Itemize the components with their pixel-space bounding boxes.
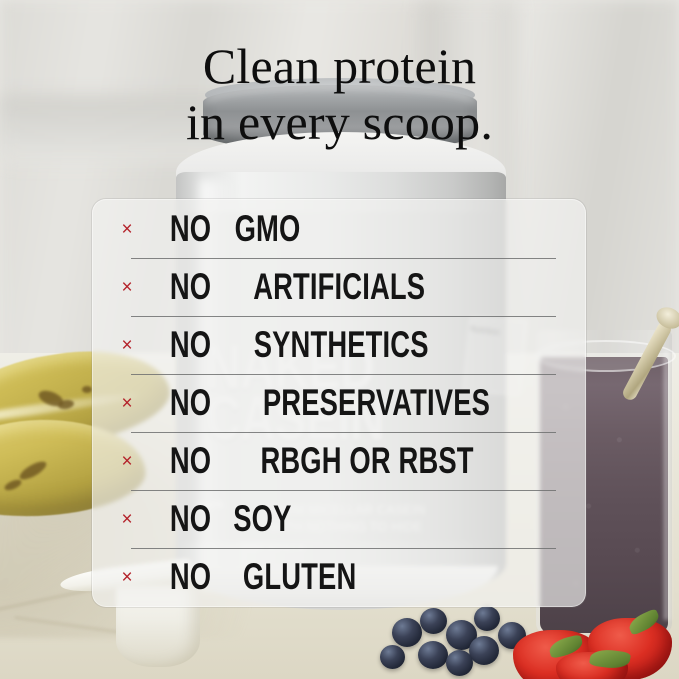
x-mark-icon: × <box>93 452 161 471</box>
headline-line-1: Clean protein <box>203 38 476 94</box>
claim-prefix: NO <box>170 266 220 308</box>
claim-text: NORBGH OR RBST <box>161 440 511 482</box>
claims-list: ×NOGMO×NOARTIFICIALS×NOSYNTHETICS×NOPRES… <box>93 200 585 606</box>
x-mark-icon: × <box>93 278 161 297</box>
blueberry <box>446 650 473 676</box>
claim-prefix: NO <box>170 324 220 366</box>
blueberry <box>420 608 447 634</box>
claim-item: GLUTEN <box>243 556 356 598</box>
claim-row: ×NORBGH OR RBST <box>93 432 585 490</box>
claim-text: NOGMO <box>161 208 312 250</box>
claim-prefix: NO <box>170 382 220 424</box>
headline: Clean protein in every scoop. <box>0 38 679 150</box>
claim-prefix: NO <box>170 498 220 540</box>
claim-text: NOSYNTHETICS <box>161 324 459 366</box>
x-mark-icon: × <box>93 568 161 587</box>
blueberry <box>380 645 405 669</box>
x-mark-icon: × <box>93 510 161 529</box>
claim-row: ×NOARTIFICIALS <box>93 258 585 316</box>
product-infographic: NAKED CASEIN 100% FROM MICELLAR CASEIN W… <box>0 0 679 679</box>
x-mark-icon: × <box>93 394 161 413</box>
claim-prefix: NO <box>170 208 220 250</box>
x-mark-icon: × <box>93 220 161 239</box>
claim-row: ×NOSYNTHETICS <box>93 316 585 374</box>
claim-item: PRESERVATIVES <box>263 382 490 424</box>
claim-row: ×NOPRESERVATIVES <box>93 374 585 432</box>
claim-text: NOGLUTEN <box>161 556 376 598</box>
blueberry <box>392 618 422 647</box>
claim-row: ×NOGMO <box>93 200 585 258</box>
claim-prefix: NO <box>170 440 220 482</box>
claim-text: NOPRESERVATIVES <box>161 382 530 424</box>
x-mark-icon: × <box>93 336 161 355</box>
blueberry <box>474 606 500 631</box>
claim-item: ARTIFICIALS <box>253 266 425 308</box>
claims-panel: ×NOGMO×NOARTIFICIALS×NOSYNTHETICS×NOPRES… <box>92 199 586 607</box>
claim-prefix: NO <box>170 556 220 598</box>
claim-item: RBGH OR RBST <box>260 440 473 482</box>
claim-item: SOY <box>233 498 291 540</box>
claim-item: GMO <box>235 208 301 250</box>
banana-spot <box>82 386 92 393</box>
claim-text: NOARTIFICIALS <box>161 266 455 308</box>
blueberry <box>418 641 448 669</box>
glass-highlight <box>664 350 673 620</box>
claim-row: ×NOGLUTEN <box>93 548 585 606</box>
claim-item: SYNTHETICS <box>254 324 429 366</box>
headline-line-2: in every scoop. <box>0 94 679 150</box>
blueberry <box>469 636 499 665</box>
claim-text: NOSOY <box>161 498 302 540</box>
claim-row: ×NOSOY <box>93 490 585 548</box>
